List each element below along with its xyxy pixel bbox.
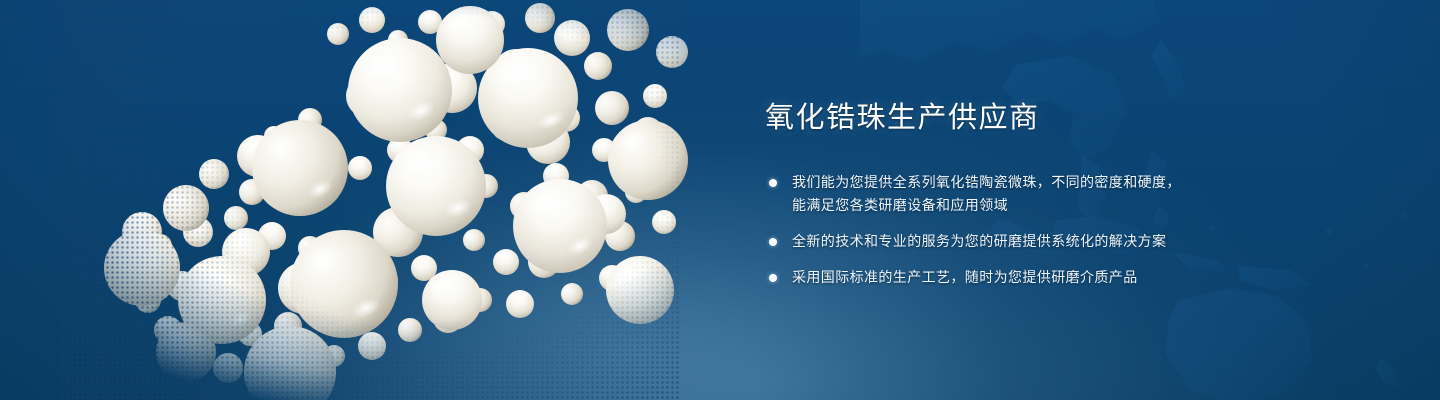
banner-copy: 氧化锆珠生产供应商 我们能为您提供全系列氧化锆陶瓷微珠，不同的密度和硬度， 能满… xyxy=(765,104,1325,289)
hero-banner: 氧化锆珠生产供应商 我们能为您提供全系列氧化锆陶瓷微珠，不同的密度和硬度， 能满… xyxy=(0,0,1440,400)
list-item-line: 全新的技术和专业的服务为您的研磨提供系统化的解决方案 xyxy=(792,230,1325,253)
list-item: 全新的技术和专业的服务为您的研磨提供系统化的解决方案 xyxy=(765,230,1325,253)
page-title: 氧化锆珠生产供应商 xyxy=(765,104,1325,133)
list-item: 我们能为您提供全系列氧化锆陶瓷微珠，不同的密度和硬度， 能满足您各类研磨设备和应… xyxy=(765,171,1325,217)
feature-list: 我们能为您提供全系列氧化锆陶瓷微珠，不同的密度和硬度， 能满足您各类研磨设备和应… xyxy=(765,171,1325,289)
bullet-dot-icon xyxy=(769,179,777,187)
list-item: 采用国际标准的生产工艺，随时为您提供研磨介质产品 xyxy=(765,266,1325,289)
list-item-line: 采用国际标准的生产工艺，随时为您提供研磨介质产品 xyxy=(792,266,1325,289)
list-item-line: 能满足您各类研磨设备和应用领域 xyxy=(792,194,1325,217)
list-item-line: 我们能为您提供全系列氧化锆陶瓷微珠，不同的密度和硬度， xyxy=(792,171,1325,194)
bullet-dot-icon xyxy=(769,238,777,246)
bullet-dot-icon xyxy=(769,274,777,282)
